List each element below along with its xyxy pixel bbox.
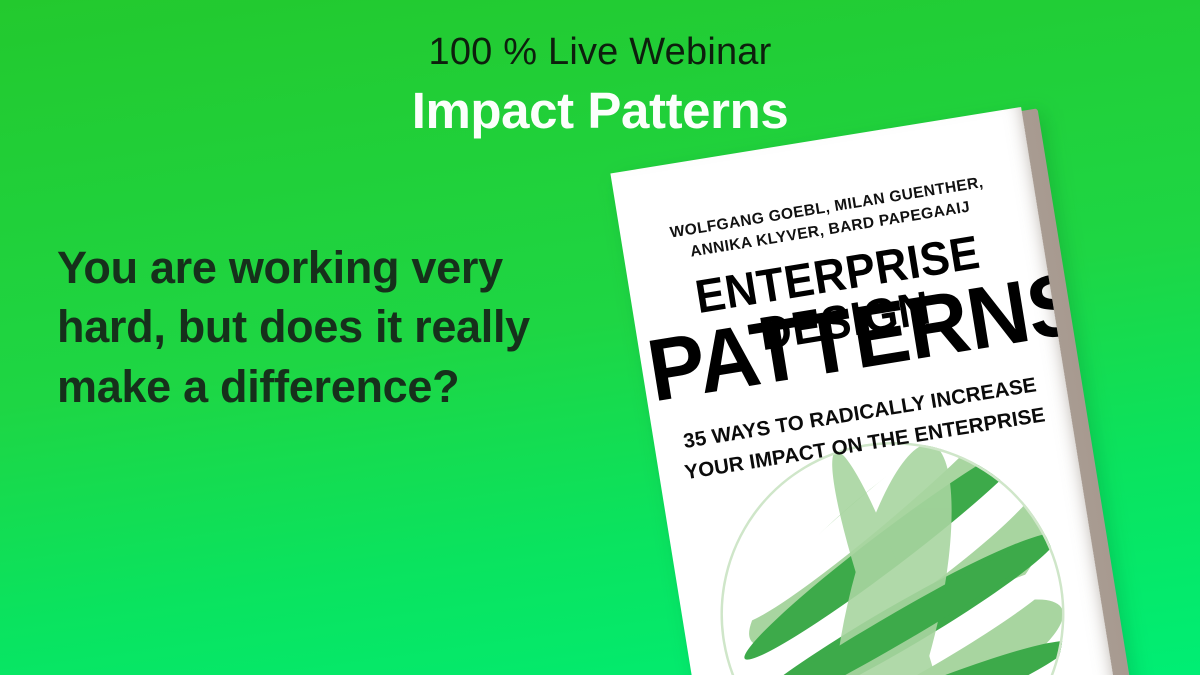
webinar-slide: 100 % Live Webinar Impact Patterns You a…: [0, 0, 1200, 675]
book-cover-image: WOLFGANG GOEBL, MILAN GUENTHER, ANNIKA K…: [610, 105, 1130, 675]
question-text: You are working very hard, but does it r…: [57, 238, 622, 416]
webinar-kicker: 100 % Live Webinar: [0, 32, 1200, 73]
